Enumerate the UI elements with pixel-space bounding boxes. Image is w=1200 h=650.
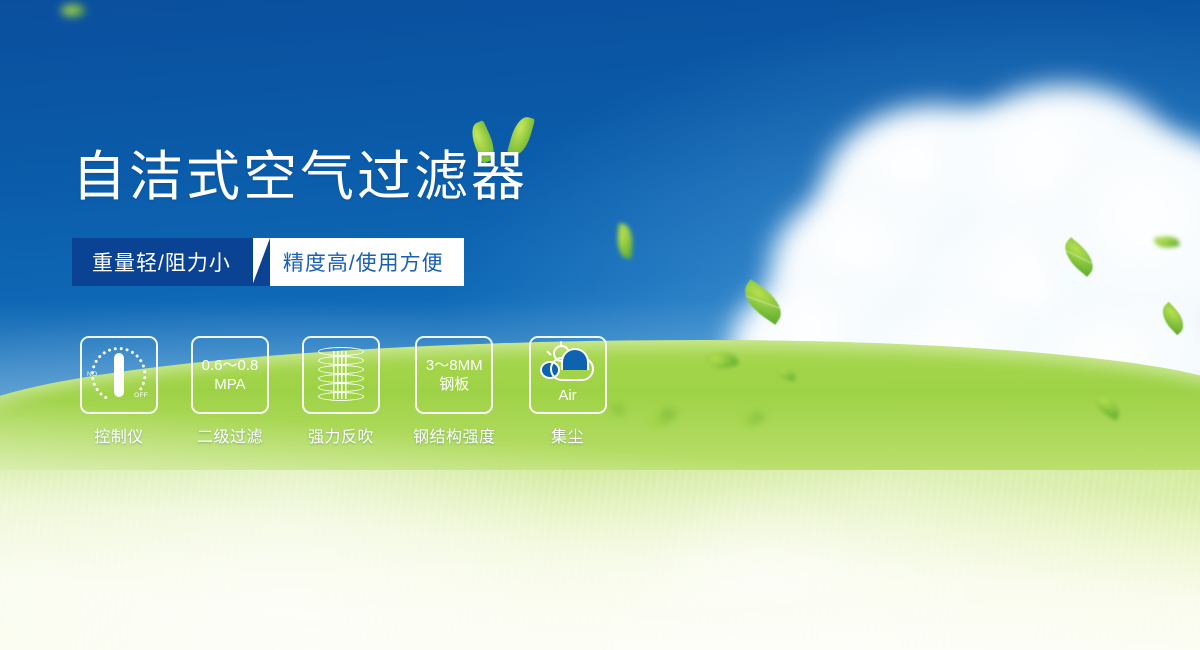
page-title: 自洁式空气过滤器	[72, 146, 528, 208]
feature-item-dust-collection[interactable]: Air 集尘	[529, 336, 607, 447]
feature-tag-primary: 重量轻/阻力小	[72, 238, 253, 286]
steel-material-text: 钢板	[439, 375, 469, 394]
feature-label: 强力反吹	[308, 423, 374, 447]
cloud-air-icon-box: Air	[529, 336, 607, 414]
feature-tag-group: 重量轻/阻力小 精度高/使用方便	[72, 238, 464, 286]
promotional-banner: 自洁式空气过滤器 重量轻/阻力小 精度高/使用方便	[0, 0, 1200, 650]
feature-label: 控制仪	[94, 423, 144, 447]
coil-filter-icon	[318, 347, 364, 403]
steel-plate-icon-box: 3～8MM 钢板	[415, 336, 493, 414]
cloud-air-icon	[540, 345, 596, 385]
steel-thickness-text: 3～8MM	[426, 356, 483, 375]
dial-gauge-icon-box: NO OFF	[80, 336, 158, 414]
feature-label: 二级过滤	[197, 423, 263, 447]
grass-sunlight-sheen	[0, 470, 1200, 650]
feature-label: 集尘	[551, 423, 584, 447]
feature-item-controller[interactable]: NO OFF 控制仪	[80, 336, 158, 447]
pressure-unit-text: MPA	[214, 375, 245, 394]
feature-item-backflush[interactable]: 强力反吹	[302, 336, 380, 447]
dial-gauge-icon: NO OFF	[88, 344, 150, 406]
feature-tag-secondary: 精度高/使用方便	[253, 238, 464, 286]
dial-label-off: OFF	[134, 392, 148, 399]
feature-icon-row: NO OFF 控制仪 0.6～0.8 MPA 二级过滤	[80, 336, 607, 447]
feature-item-secondary-filter[interactable]: 0.6～0.8 MPA 二级过滤	[191, 336, 269, 447]
pressure-range-text: 0.6～0.8	[202, 356, 259, 375]
air-label-text: Air	[558, 386, 576, 405]
feature-item-steel-strength[interactable]: 3～8MM 钢板 钢结构强度	[413, 336, 496, 447]
feature-label: 钢结构强度	[413, 423, 496, 447]
pressure-value-icon-box: 0.6～0.8 MPA	[191, 336, 269, 414]
coil-filter-icon-box	[302, 336, 380, 414]
dial-label-no: NO	[87, 371, 97, 378]
